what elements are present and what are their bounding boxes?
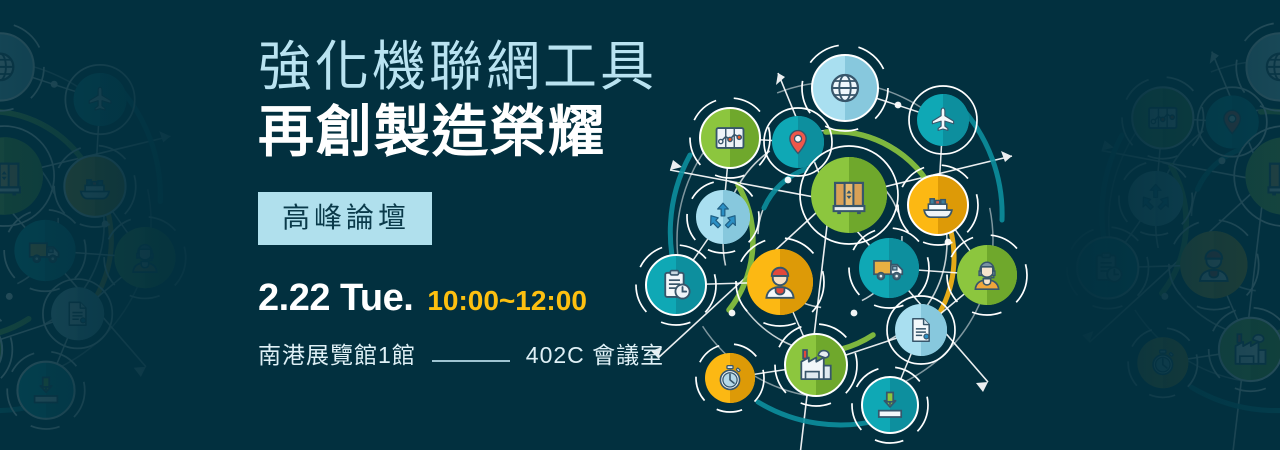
event-time: 10:00~12:00 [427,285,587,317]
headline-line-1: 強化機聯網工具 [258,36,688,98]
event-date-row: 2.22 Tue. 10:00~12:00 [258,277,688,320]
event-venue-row: 南港展覽館1館 402C 會議室 [258,336,688,370]
iot-network-illustration [630,10,1050,450]
event-banner: 強化機聯網工具 再創製造榮耀 高峰論壇 2.22 Tue. 10:00~12:0… [0,0,1280,450]
forum-type-badge: 高峰論壇 [258,192,432,245]
headline-line-2: 再創製造榮耀 [258,100,688,164]
background-network-left [0,0,209,450]
event-date: 2.22 Tue. [258,277,413,320]
background-network-right [1061,0,1280,450]
event-room: 402C 會議室 [526,336,664,370]
venue-divider-rule [432,360,510,362]
banner-text-column: 強化機聯網工具 再創製造榮耀 高峰論壇 2.22 Tue. 10:00~12:0… [258,36,688,370]
event-venue: 南港展覽館1館 [258,336,416,370]
